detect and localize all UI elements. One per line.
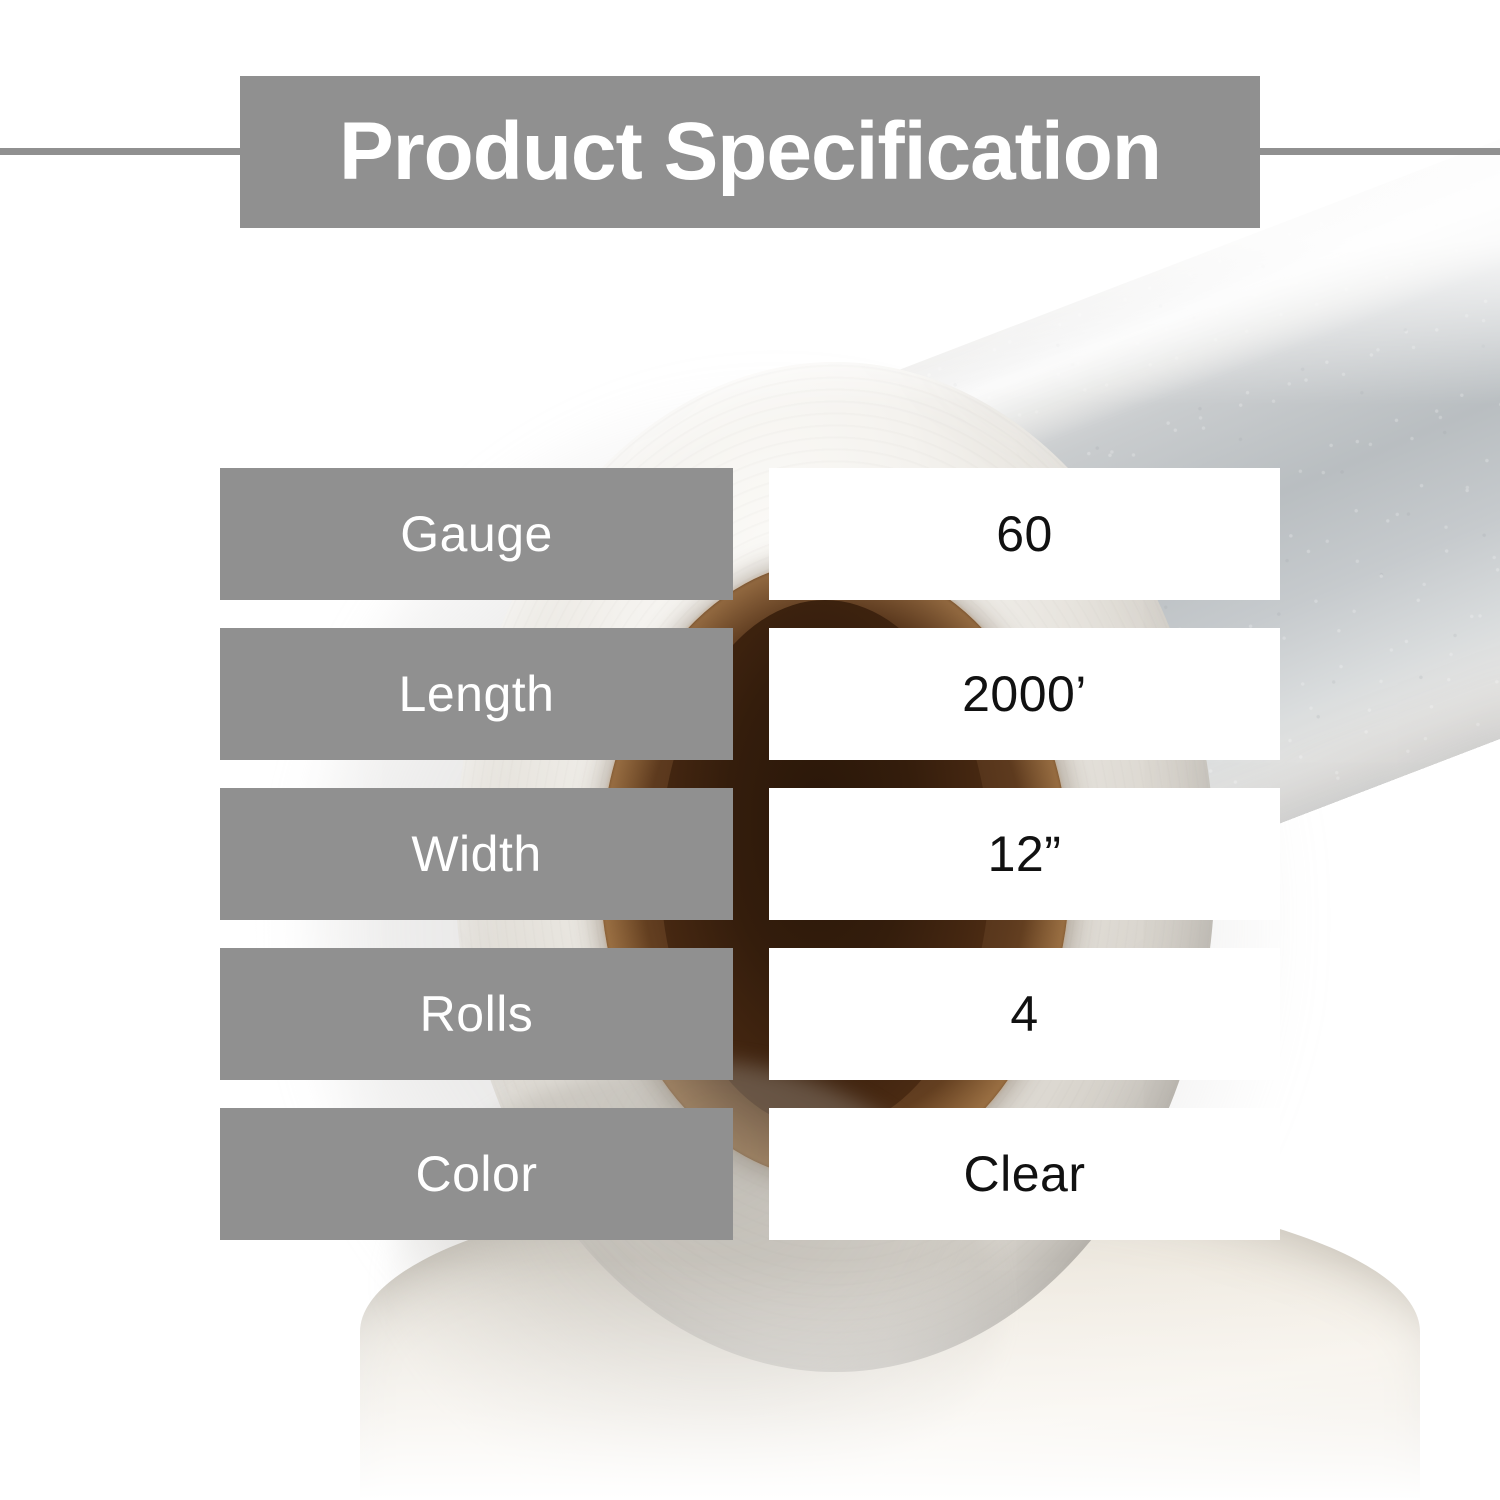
product-specification-graphic: Product Specification Gauge 60 Length 20… <box>0 0 1500 1500</box>
spec-value-color: Clear <box>769 1108 1280 1240</box>
table-row: Width 12” <box>0 788 1500 920</box>
spec-label-text: Color <box>416 1145 538 1203</box>
table-row: Gauge 60 <box>0 468 1500 600</box>
spec-label-rolls: Rolls <box>220 948 733 1080</box>
spec-value-text: Clear <box>964 1145 1086 1203</box>
spec-value-text: 12” <box>988 825 1062 883</box>
spec-label-text: Length <box>399 665 555 723</box>
spec-value-text: 2000’ <box>962 665 1087 723</box>
spec-label-text: Width <box>411 825 541 883</box>
spec-value-width: 12” <box>769 788 1280 920</box>
header-rule-left <box>0 148 245 155</box>
table-row: Color Clear <box>0 1108 1500 1240</box>
spec-value-text: 4 <box>1010 985 1038 1043</box>
spec-value-gauge: 60 <box>769 468 1280 600</box>
table-row: Length 2000’ <box>0 628 1500 760</box>
spec-value-length: 2000’ <box>769 628 1280 760</box>
page-title: Product Specification <box>339 111 1161 193</box>
header-banner: Product Specification <box>240 76 1260 228</box>
spec-label-gauge: Gauge <box>220 468 733 600</box>
spec-label-length: Length <box>220 628 733 760</box>
table-row: Rolls 4 <box>0 948 1500 1080</box>
spec-value-text: 60 <box>996 505 1053 563</box>
spec-label-color: Color <box>220 1108 733 1240</box>
spec-label-text: Gauge <box>400 505 553 563</box>
spec-label-text: Rolls <box>420 985 534 1043</box>
specification-table: Gauge 60 Length 2000’ Width 12” Rol <box>0 468 1500 1240</box>
spec-value-rolls: 4 <box>769 948 1280 1080</box>
spec-label-width: Width <box>220 788 733 920</box>
header-rule-right <box>1255 148 1500 155</box>
